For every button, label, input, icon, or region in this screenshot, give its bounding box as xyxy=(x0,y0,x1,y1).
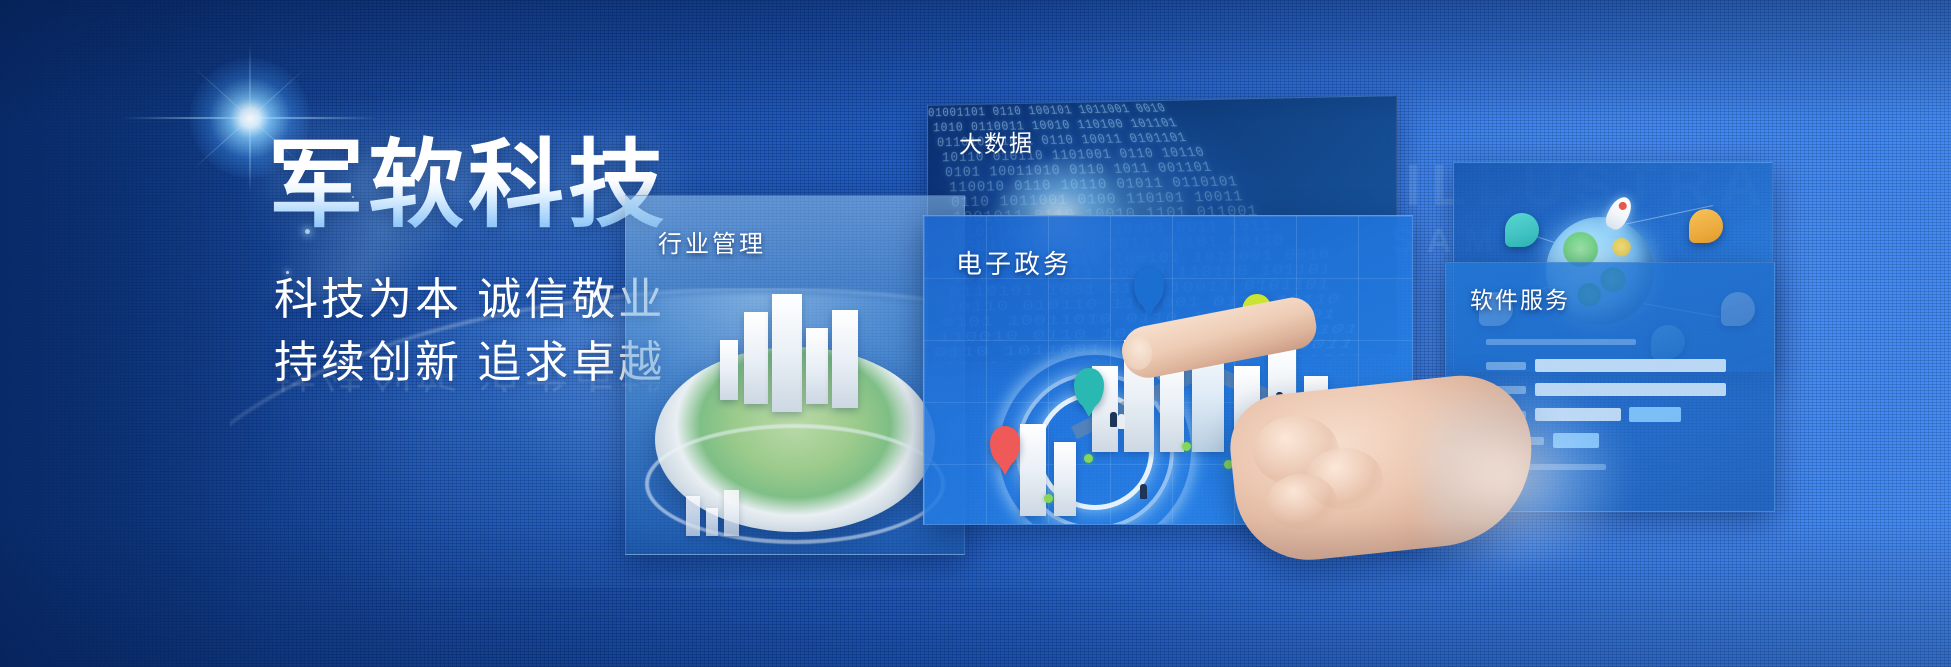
building-shape xyxy=(1054,442,1076,516)
panel-e-government[interactable]: 电子政务 xyxy=(923,215,1413,525)
person-figure xyxy=(1276,392,1283,407)
tree-icon xyxy=(1296,432,1305,441)
building-shape xyxy=(686,496,700,536)
building-shape xyxy=(772,294,802,412)
tree-icon xyxy=(1044,494,1053,503)
building-shape xyxy=(1020,424,1046,516)
tree-icon xyxy=(1084,454,1093,463)
form-row xyxy=(1486,383,1726,396)
person-figure xyxy=(1110,412,1117,427)
building-shape xyxy=(1234,366,1260,452)
form-row xyxy=(1486,407,1726,422)
person-figure xyxy=(1140,484,1147,499)
puzzle-node-icon xyxy=(1689,209,1723,243)
building-shape xyxy=(806,328,828,404)
building-shape xyxy=(1124,340,1154,452)
panel-industry-management[interactable]: 行业管理 xyxy=(625,195,965,555)
login-form-mock xyxy=(1486,339,1726,470)
service-panel-collage: 01001101 0110 100101 1011001 00101010 01… xyxy=(985,40,1951,667)
tree-icon xyxy=(1224,460,1233,469)
building-shape xyxy=(832,310,858,408)
hero-banner: 军软科技 科技为本 诚信敬业 持续创新 追求卓越 持续创新 追求卓越 01001… xyxy=(0,0,1951,667)
form-row xyxy=(1486,433,1726,448)
chat-node-icon xyxy=(1505,213,1539,247)
tree-icon xyxy=(1182,442,1191,451)
panel-label-software-service: 软件服务 xyxy=(1470,281,1570,315)
form-heading-bar xyxy=(1486,339,1636,345)
person-figure xyxy=(1118,414,1125,429)
building-shape xyxy=(1160,358,1184,452)
panel-label-bigdata: 大数据 xyxy=(959,124,1034,160)
form-row xyxy=(1486,359,1726,372)
panel-software-service[interactable]: 软件服务 xyxy=(1445,262,1775,512)
building-shape xyxy=(1304,376,1328,452)
form-footer-bar xyxy=(1486,464,1606,470)
building-shape xyxy=(706,508,718,536)
building-shape xyxy=(724,490,739,536)
person-figure xyxy=(1284,394,1291,409)
building-shape xyxy=(744,312,768,404)
panel-label-industry-management: 行业管理 xyxy=(658,224,766,259)
building-shape xyxy=(720,340,738,400)
building-shape xyxy=(1192,332,1224,452)
panel-label-e-government: 电子政务 xyxy=(956,244,1072,281)
